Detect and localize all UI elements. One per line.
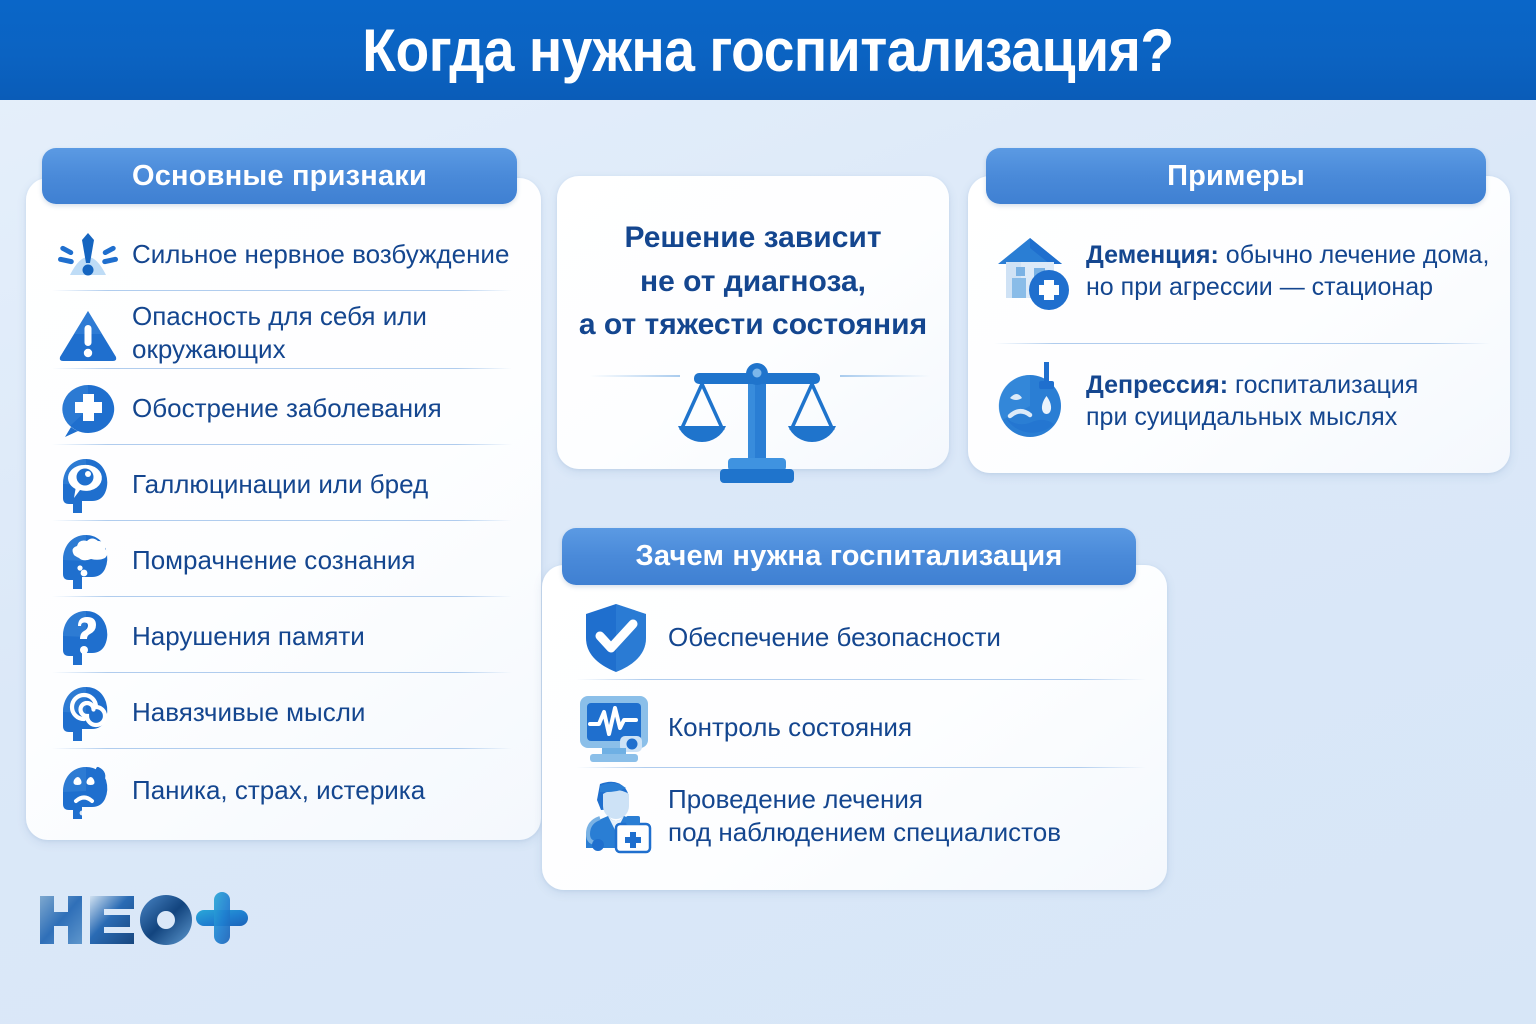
divider [52, 368, 512, 369]
list-item[interactable]: Помрачнение сознания [56, 524, 526, 598]
head-sad-face-icon [56, 761, 120, 821]
decision-line-1: Решение зависит [557, 216, 949, 260]
list-item[interactable]: Обеспечение безопасности [576, 600, 1156, 676]
list-item-label: Проведение лечения под наблюдением специ… [668, 783, 1061, 850]
house-with-cross-icon [992, 228, 1078, 314]
list-item-label: Обострение заболевания [132, 392, 442, 425]
decision-line-2: не от диагноза, [557, 260, 949, 304]
doctor-bag-icon [576, 778, 656, 854]
divider [576, 767, 1146, 768]
list-item-label: Опасность для себя или окружающих [132, 300, 526, 367]
balance-scales-icon [672, 358, 842, 488]
divider [576, 679, 1146, 680]
divider [52, 748, 512, 749]
list-item[interactable]: Сильное нервное возбуждение [56, 218, 526, 292]
list-item-label: Нарушения памяти [132, 620, 365, 653]
divider [994, 343, 1490, 344]
decision-line-3: а от тяжести состояния [557, 303, 949, 347]
head-cloud-icon [56, 531, 120, 591]
sad-face-teardrop-icon [992, 358, 1078, 444]
list-item-label: Депрессия: госпитализация при суицидальн… [1086, 369, 1418, 433]
divider [52, 672, 512, 673]
divider [52, 520, 512, 521]
list-item[interactable]: Нарушения памяти [56, 600, 526, 674]
purpose-line-1: Проведение лечения [668, 783, 1061, 816]
list-item[interactable]: Обострение заболевания [56, 372, 526, 446]
example-term: Депрессия: [1086, 371, 1228, 399]
title-bar: Когда нужна госпитализация? [0, 0, 1536, 100]
purpose-heading-label: Зачем нужна госпитализация [636, 540, 1063, 573]
divider [52, 290, 512, 291]
list-item[interactable]: Галлюцинации или бред [56, 448, 526, 522]
examples-heading: Примеры [986, 148, 1486, 204]
head-spiral-icon [56, 683, 120, 743]
page-title: Когда нужна госпитализация? [362, 16, 1173, 85]
warning-triangle-icon [56, 303, 120, 363]
neo-plus-logo [38, 890, 248, 952]
list-item[interactable]: Контроль состояния [576, 690, 1156, 766]
example-desc-2: но при агрессии — стационар [1086, 271, 1489, 303]
list-item[interactable]: Навязчивые мысли [56, 676, 526, 750]
main-signs-heading: Основные признаки [42, 148, 517, 204]
list-item-label: Паника, страх, истерика [132, 774, 425, 807]
list-item[interactable]: Опасность для себя или окружающих [56, 296, 526, 370]
main-signs-heading-label: Основные признаки [132, 160, 427, 193]
head-eye-bubble-icon [56, 455, 120, 515]
head-question-icon [56, 607, 120, 667]
divider [52, 596, 512, 597]
divider [52, 444, 512, 445]
list-item[interactable]: Депрессия: госпитализация при суицидальн… [992, 358, 1502, 444]
examples-heading-label: Примеры [1167, 160, 1305, 193]
purpose-line-2: под наблюдением специалистов [668, 816, 1061, 849]
list-item-label: Деменция: обычно лечение дома, но при аг… [1086, 239, 1489, 303]
list-item-label: Навязчивые мысли [132, 696, 365, 729]
list-item[interactable]: Деменция: обычно лечение дома, но при аг… [992, 228, 1502, 314]
list-item-label: Контроль состояния [668, 711, 912, 744]
list-item-label: Обеспечение безопасности [668, 621, 1001, 654]
example-term: Деменция: [1086, 241, 1219, 269]
medical-cross-bubble-icon [56, 379, 120, 439]
ecg-monitor-icon [576, 690, 656, 766]
exclamation-burst-icon [56, 225, 120, 285]
decision-statement-text: Решение зависит не от диагноза, а от тяж… [557, 216, 949, 347]
example-desc-1: госпитализация [1228, 371, 1418, 399]
purpose-heading: Зачем нужна госпитализация [562, 528, 1136, 585]
list-item-label: Галлюцинации или бред [132, 468, 428, 501]
decoration-rule-right [840, 375, 930, 377]
list-item-label: Сильное нервное возбуждение [132, 238, 509, 271]
list-item[interactable]: Паника, страх, истерика [56, 754, 526, 828]
example-desc-1: обычно лечение дома, [1219, 241, 1490, 269]
decoration-rule-left [590, 375, 680, 377]
list-item-label: Помрачнение сознания [132, 544, 415, 577]
example-desc-2: при суицидальных мыслях [1086, 401, 1418, 433]
list-item[interactable]: Проведение лечения под наблюдением специ… [576, 778, 1156, 854]
shield-check-icon [576, 600, 656, 676]
